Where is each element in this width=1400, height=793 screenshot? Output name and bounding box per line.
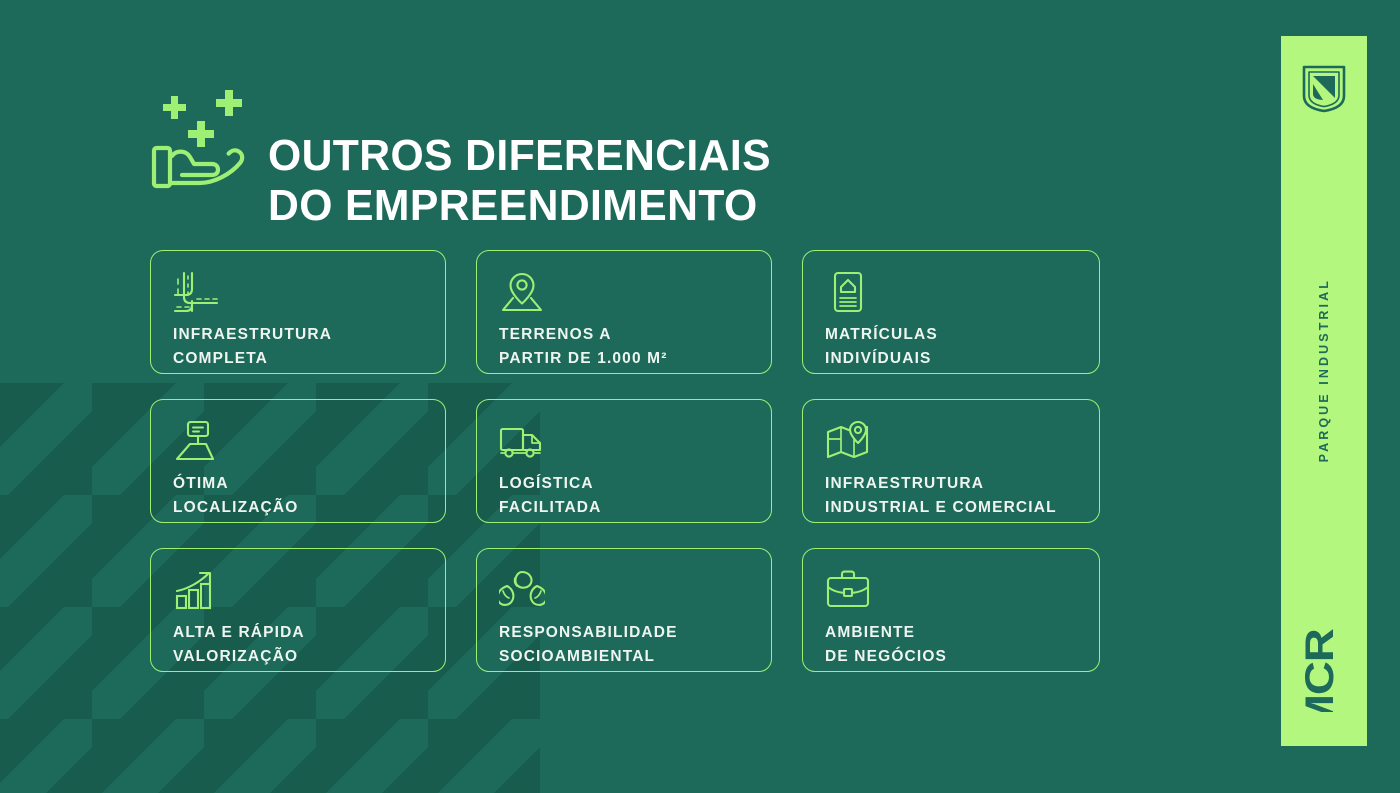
feature-card-infra-industrial[interactable]: INFRAESTRUTURA INDUSTRIAL E COMERCIAL — [802, 399, 1100, 523]
feature-card-label: ÓTIMA LOCALIZAÇÃO — [173, 472, 445, 519]
feature-card-label: ALTA E RÁPIDA VALORIZAÇÃO — [173, 621, 445, 668]
svg-text:MCR: MCR — [1297, 629, 1342, 712]
feature-card-valorizacao[interactable]: ALTA E RÁPIDA VALORIZAÇÃO — [150, 548, 446, 672]
billboard-sign-icon — [173, 420, 219, 462]
mcr-wordmark-icon: MCR — [1293, 626, 1355, 712]
brand-sidebar: PARQUE INDUSTRIAL MCR — [1281, 36, 1367, 746]
briefcase-icon — [825, 569, 871, 611]
sidebar-vertical-label: PARQUE INDUSTRIAL — [1317, 278, 1331, 462]
feature-card-logistica[interactable]: LOGÍSTICA FACILITADA — [476, 399, 772, 523]
shield-monogram-icon — [1301, 64, 1347, 114]
feature-card-label: INFRAESTRUTURA INDUSTRIAL E COMERCIAL — [825, 472, 1099, 519]
delivery-truck-icon — [499, 420, 545, 462]
feature-card-matriculas[interactable]: MATRÍCULAS INDIVÍDUAIS — [802, 250, 1100, 374]
feature-card-label: MATRÍCULAS INDIVÍDUAIS — [825, 323, 1099, 370]
hand-with-sparkles-icon — [150, 86, 246, 190]
feature-card-otima-localizacao[interactable]: ÓTIMA LOCALIZAÇÃO — [150, 399, 446, 523]
recycling-leaves-icon — [499, 569, 545, 611]
brand-logo-mcr: MCR — [1293, 626, 1355, 712]
feature-card-label: AMBIENTE DE NEGÓCIOS — [825, 621, 1099, 668]
feature-card-label: INFRAESTRUTURA COMPLETA — [173, 323, 445, 370]
feature-card-grid: INFRAESTRUTURA COMPLETA TERRENOS A PARTI… — [150, 250, 1102, 672]
feature-card-label: TERRENOS A PARTIR DE 1.000 M² — [499, 323, 771, 370]
growth-bar-chart-icon — [173, 569, 219, 611]
page-title-line-1: OUTROS DIFERENCIAIS — [268, 131, 771, 180]
page-title: OUTROS DIFERENCIAIS DO EMPREENDIMENTO — [268, 82, 771, 279]
feature-card-ambiente-negocios[interactable]: AMBIENTE DE NEGÓCIOS — [802, 548, 1100, 672]
page-title-line-2: DO EMPREENDIMENTO — [268, 181, 771, 230]
slide-header: OUTROS DIFERENCIAIS DO EMPREENDIMENTO — [150, 82, 787, 279]
feature-card-label: RESPONSABILIDADE SOCIOAMBIENTAL — [499, 621, 771, 668]
map-with-pin-icon — [825, 420, 871, 462]
sidebar-vertical-label-wrap: PARQUE INDUSTRIAL — [1281, 114, 1367, 626]
document-house-icon — [825, 271, 871, 313]
feature-card-label: LOGÍSTICA FACILITADA — [499, 472, 771, 519]
slide-root: OUTROS DIFERENCIAIS DO EMPREENDIMENTO IN… — [0, 0, 1400, 793]
feature-card-socioambiental[interactable]: RESPONSABILIDADE SOCIOAMBIENTAL — [476, 548, 772, 672]
